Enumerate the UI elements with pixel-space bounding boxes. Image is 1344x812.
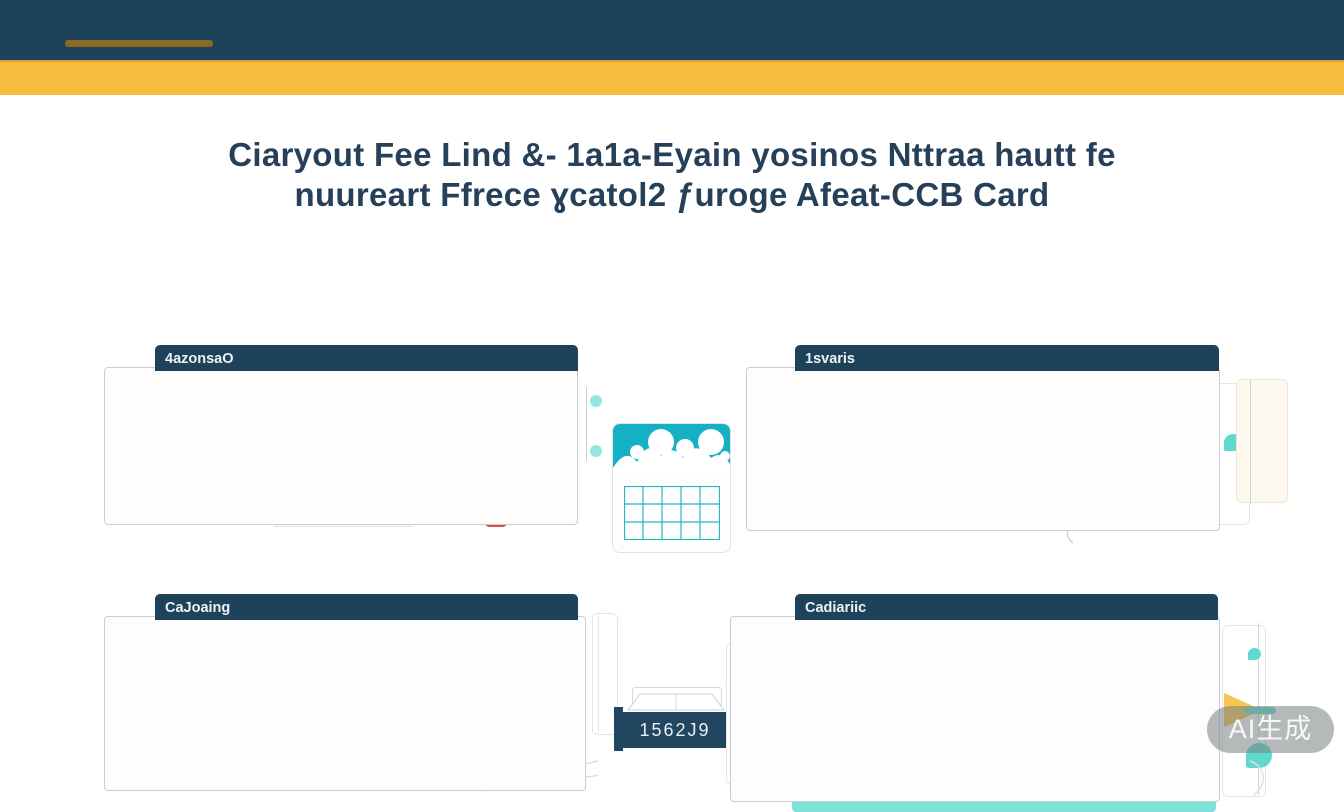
card-bottom-right-body [730,616,1220,802]
calendar-icon-grid [624,486,720,540]
connector-left-to-center [586,387,587,461]
top-yellow-band [0,60,1344,95]
top-navigation-bar [0,0,1344,60]
number-badge: 1562J9 [621,712,729,748]
page-title: Ciaryout Fee Lind &- 1a1a-Eyain yosinos … [0,135,1344,215]
top-accent-bar [65,40,213,47]
card-top-left-header: 4azonsaO [155,345,578,371]
connector-dot-bottom [590,445,602,457]
calendar-icon[interactable] [612,423,731,553]
card-top-left-body [104,367,578,525]
card-bottom-left-header: CaJoaing [155,594,578,620]
page-title-line-1: Ciaryout Fee Lind &- 1a1a-Eyain yosinos … [0,135,1344,175]
card-bottom-right-wire-glyph [1240,757,1300,803]
connector-left-to-badge [598,615,599,733]
ai-generated-watermark: AI生成 [1207,706,1334,753]
number-badge-shape [624,690,728,712]
page-title-line-2: nuureart Ffrece ɣcatol2 ƒuroge Afeat-CCB… [0,175,1344,215]
card-top-right-vline [1250,379,1251,504]
card-top-right-body [746,367,1220,531]
calendar-icon-people-glyph [613,424,730,474]
card-bottom-left-body [104,616,586,791]
card-bottom-right-blob-top [1248,648,1261,660]
number-badge-left-rail [614,707,623,751]
infographic-canvas: Ciaryout Fee Lind &- 1a1a-Eyain yosinos … [0,95,1344,768]
calendar-icon-header [613,424,730,474]
card-top-right-outer-ghost [1236,379,1288,503]
card-bottom-right-header: Cadiariic [795,594,1218,620]
card-top-right-header: 1svaris [795,345,1219,371]
connector-dot-top [590,395,602,407]
